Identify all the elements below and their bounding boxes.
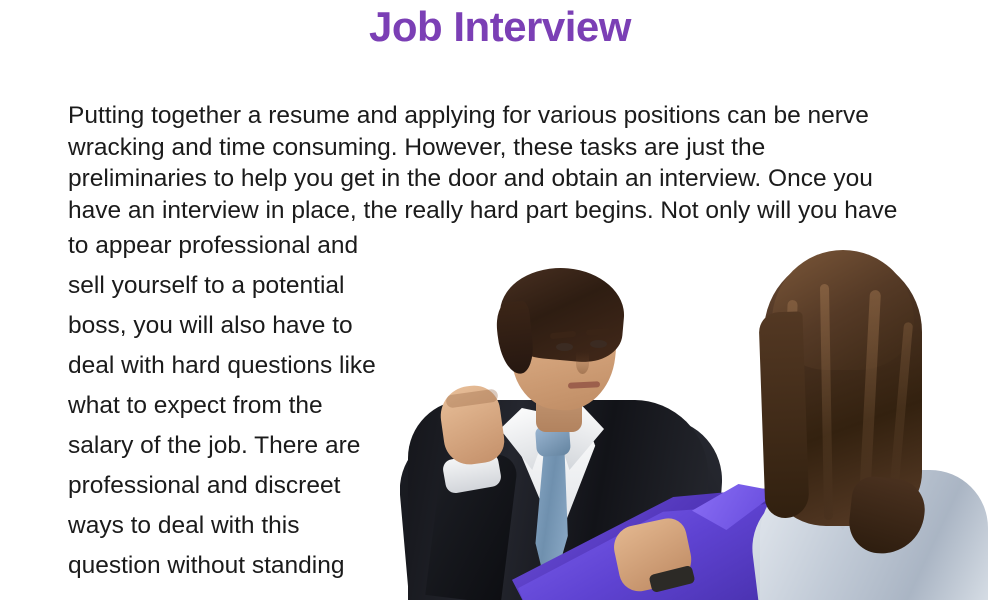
photo-figure-man xyxy=(400,240,720,600)
body-line: Putting together a resume and applying f… xyxy=(68,100,953,132)
body-line: sell yourself to a potential xyxy=(68,266,413,306)
interview-photo xyxy=(400,240,1000,600)
man-eye-left-icon xyxy=(556,343,573,351)
body-line: deal with hard questions like xyxy=(68,346,413,386)
page-title: Job Interview xyxy=(0,2,1000,52)
body-line: question without standing xyxy=(68,546,413,586)
body-line: ways to deal with this xyxy=(68,506,413,546)
body-line: boss, you will also have to xyxy=(68,306,413,346)
body-line: what to expect from the xyxy=(68,386,413,426)
woman-hair-front-icon xyxy=(758,311,809,518)
body-line: professional and discreet xyxy=(68,466,413,506)
body-line: wracking and time consuming. However, th… xyxy=(68,132,953,164)
body-line: to appear professional and xyxy=(68,226,413,266)
man-eye-right-icon xyxy=(590,340,607,348)
man-nose-icon xyxy=(576,352,589,374)
body-line: preliminaries to help you get in the doo… xyxy=(68,163,953,195)
body-line: salary of the job. There are xyxy=(68,426,413,466)
slide-canvas: Job Interview Putting together a resume … xyxy=(0,0,1000,600)
body-line: have an interview in place, the really h… xyxy=(68,195,953,227)
photo-figure-woman xyxy=(700,240,1000,600)
